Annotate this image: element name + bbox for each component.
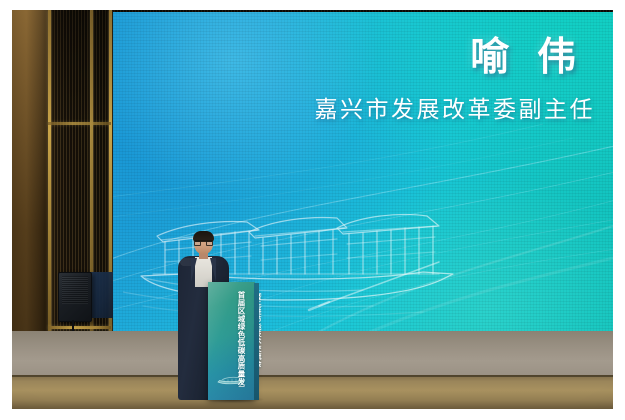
suit-lapel-left [191,258,197,282]
gold-trim-horizontal-2 [48,326,111,329]
glasses-icon [194,240,213,245]
podium-banner-line-2: 暨先进节能技术交流会 [231,293,265,385]
photo-frame: 喻 伟 嘉兴市发展改革委副主任 [0,0,625,420]
screen-text-block: 喻 伟 嘉兴市发展改革委副主任 [315,38,598,122]
gold-trim-horizontal-1 [48,122,111,125]
stage-front-edge [12,375,613,409]
speaker-podium: 首届区域绿色低碳高质量发展 暨先进节能技术交流会 [208,282,259,400]
stage-floor [12,331,613,409]
stage-edge-line [12,375,613,377]
podium-side-panel [254,283,259,400]
speaker-grille [62,276,88,304]
podium-front-panel: 首届区域绿色低碳高质量发展 暨先进节能技术交流会 [208,282,255,400]
speaker-title: 嘉兴市发展改革委副主任 [315,97,598,122]
pa-speaker-cabinet [58,272,92,322]
floor-shading [12,331,613,361]
suit-lapel-right [210,258,216,282]
podium-boat-icon [216,374,246,386]
conference-stage-photo: 喻 伟 嘉兴市发展改革委副主任 [12,10,613,409]
gold-trim-vertical-1 [48,10,51,355]
speaker-name: 喻 伟 [315,38,598,79]
